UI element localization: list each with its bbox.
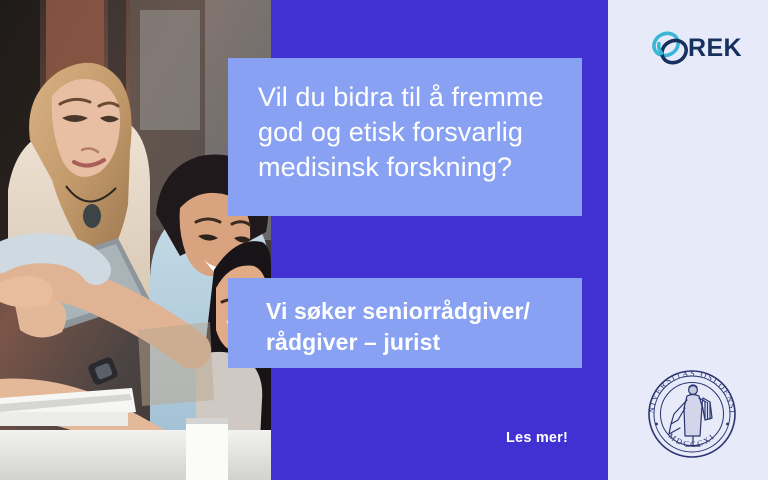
headline-line-2: god og etisk forsvarlig (258, 115, 556, 150)
uio-seal-icon: UNIVERSITAS OSLOENSIS MDCCCXI (640, 362, 744, 466)
rek-rings-icon (650, 27, 691, 69)
uio-seal: UNIVERSITAS OSLOENSIS MDCCCXI (640, 362, 744, 466)
rek-wordmark: REK (688, 34, 742, 63)
headline-line-1: Vil du bidra til å fremme (258, 80, 556, 115)
read-more-link[interactable]: Les mer! (506, 430, 568, 446)
position-line-1: Vi søker seniorrådgiver/ (266, 296, 556, 327)
rek-logo[interactable]: REK (650, 26, 742, 70)
position-line-2: rådgiver – jurist (266, 327, 556, 358)
position-panel: Vi søker seniorrådgiver/ rådgiver – juri… (228, 278, 582, 368)
job-advert-banner: Vil du bidra til å fremme god og etisk f… (0, 0, 768, 480)
headline-line-3: medisinsk forskning? (258, 150, 556, 185)
headline-panel: Vil du bidra til å fremme god og etisk f… (228, 58, 582, 216)
